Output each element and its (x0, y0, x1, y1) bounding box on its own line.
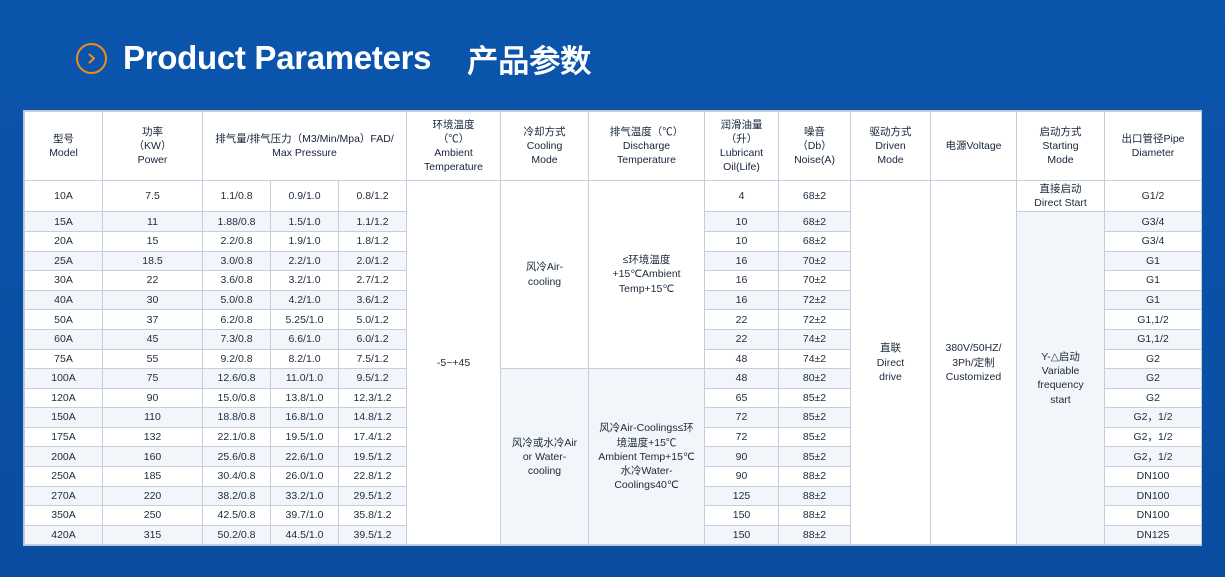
cell-model: 150A (25, 408, 103, 428)
cell-noise: 70±2 (779, 271, 851, 291)
column-header-discharge-temperature: 排气温度（℃） Discharge Temperature (589, 112, 705, 181)
cell-noise: 70±2 (779, 251, 851, 271)
cell-pressure-12: 19.5/1.2 (339, 447, 407, 467)
cell-model: 175A (25, 427, 103, 447)
cell-pipe-diameter: G2 (1105, 369, 1202, 389)
cell-noise: 85±2 (779, 388, 851, 408)
cell-pipe-diameter: DN100 (1105, 486, 1202, 506)
cell-pipe-diameter: G1/2 (1105, 181, 1202, 212)
cell-pressure-12: 6.0/1.2 (339, 329, 407, 349)
cell-pressure-10: 1.9/1.0 (271, 231, 339, 251)
cell-power: 90 (103, 388, 203, 408)
cell-pressure-12: 1.1/1.2 (339, 212, 407, 232)
cell-pressure-12: 17.4/1.2 (339, 427, 407, 447)
cell-pressure-10: 39.7/1.0 (271, 506, 339, 526)
cell-model: 200A (25, 447, 103, 467)
cell-model: 60A (25, 329, 103, 349)
cell-pressure-12: 2.0/1.2 (339, 251, 407, 271)
cell-pressure-08: 50.2/0.8 (203, 525, 271, 545)
cell-pipe-diameter: DN100 (1105, 467, 1202, 487)
cell-pressure-10: 4.2/1.0 (271, 290, 339, 310)
cell-pipe-diameter: G2，1/2 (1105, 408, 1202, 428)
cell-noise: 72±2 (779, 290, 851, 310)
cell-pressure-08: 7.3/0.8 (203, 329, 271, 349)
chevron-right-circle-icon (76, 43, 107, 74)
cell-model: 20A (25, 231, 103, 251)
cell-power: 160 (103, 447, 203, 467)
cell-lubricant-oil: 48 (705, 349, 779, 369)
column-header-power: 功率 （KW） Power (103, 112, 203, 181)
cell-pressure-08: 1.88/0.8 (203, 212, 271, 232)
cell-model: 250A (25, 467, 103, 487)
cell-model: 10A (25, 181, 103, 212)
cell-pressure-12: 39.5/1.2 (339, 525, 407, 545)
cell-noise: 88±2 (779, 525, 851, 545)
cell-pressure-08: 9.2/0.8 (203, 349, 271, 369)
cell-discharge-temperature-top: ≤环境温度 +15℃Ambient Temp+15℃ (589, 181, 705, 369)
cell-model: 15A (25, 212, 103, 232)
cell-lubricant-oil: 4 (705, 181, 779, 212)
cell-pressure-12: 29.5/1.2 (339, 486, 407, 506)
cell-lubricant-oil: 150 (705, 525, 779, 545)
cell-pipe-diameter: G1,1/2 (1105, 329, 1202, 349)
cell-pipe-diameter: G1,1/2 (1105, 310, 1202, 330)
cell-lubricant-oil: 22 (705, 329, 779, 349)
cell-pressure-08: 12.6/0.8 (203, 369, 271, 389)
cell-pressure-12: 3.6/1.2 (339, 290, 407, 310)
cell-pressure-08: 18.8/0.8 (203, 408, 271, 428)
cell-lubricant-oil: 150 (705, 506, 779, 526)
column-header-voltage: 电源Voltage (931, 112, 1017, 181)
cell-pipe-diameter: G1 (1105, 290, 1202, 310)
cell-power: 30 (103, 290, 203, 310)
cell-pressure-08: 2.2/0.8 (203, 231, 271, 251)
cell-pressure-08: 30.4/0.8 (203, 467, 271, 487)
cell-pressure-08: 38.2/0.8 (203, 486, 271, 506)
cell-noise: 68±2 (779, 231, 851, 251)
cell-power: 132 (103, 427, 203, 447)
column-header-model: 型号 Model (25, 112, 103, 181)
cell-noise: 88±2 (779, 506, 851, 526)
column-header-air-delivery-pressure: 排气量/排气压力（M3/Min/Mpa）FAD/ Max Pressure (203, 112, 407, 181)
cell-noise: 68±2 (779, 181, 851, 212)
cell-pressure-10: 8.2/1.0 (271, 349, 339, 369)
cell-power: 75 (103, 369, 203, 389)
cell-driven-mode: 直联 Direct drive (851, 181, 931, 545)
cell-pressure-10: 5.25/1.0 (271, 310, 339, 330)
cell-noise: 80±2 (779, 369, 851, 389)
cell-pressure-08: 42.5/0.8 (203, 506, 271, 526)
page-title-en: Product Parameters (123, 39, 431, 77)
cell-lubricant-oil: 48 (705, 369, 779, 389)
cell-lubricant-oil: 65 (705, 388, 779, 408)
cell-pressure-12: 12.3/1.2 (339, 388, 407, 408)
cell-model: 100A (25, 369, 103, 389)
cell-starting-mode-top: 直接启动 Direct Start (1017, 181, 1105, 212)
cell-noise: 85±2 (779, 408, 851, 428)
cell-pressure-12: 9.5/1.2 (339, 369, 407, 389)
page-header: Product Parameters 产品参数 (76, 30, 591, 86)
cell-pressure-08: 5.0/0.8 (203, 290, 271, 310)
cell-starting-mode-bottom: Y-△启动 Variable frequency start (1017, 212, 1105, 545)
cell-discharge-temperature-bottom: 风冷Air-Coolings≤环 境温度+15℃ Ambient Temp+15… (589, 369, 705, 545)
cell-pipe-diameter: DN125 (1105, 525, 1202, 545)
cell-noise: 74±2 (779, 329, 851, 349)
cell-pressure-10: 16.8/1.0 (271, 408, 339, 428)
cell-pressure-10: 0.9/1.0 (271, 181, 339, 212)
cell-pipe-diameter: G1 (1105, 271, 1202, 291)
cell-pressure-08: 3.6/0.8 (203, 271, 271, 291)
cell-pipe-diameter: G2 (1105, 349, 1202, 369)
cell-pressure-10: 19.5/1.0 (271, 427, 339, 447)
cell-pressure-08: 25.6/0.8 (203, 447, 271, 467)
cell-model: 270A (25, 486, 103, 506)
cell-lubricant-oil: 16 (705, 290, 779, 310)
cell-pressure-10: 26.0/1.0 (271, 467, 339, 487)
cell-pipe-diameter: G2，1/2 (1105, 427, 1202, 447)
cell-pressure-12: 22.8/1.2 (339, 467, 407, 487)
column-header-lubricant-oil: 润滑油量 （升） Lubricant Oil(Life) (705, 112, 779, 181)
cell-pressure-10: 1.5/1.0 (271, 212, 339, 232)
cell-pressure-10: 33.2/1.0 (271, 486, 339, 506)
cell-pressure-08: 15.0/0.8 (203, 388, 271, 408)
cell-lubricant-oil: 16 (705, 251, 779, 271)
cell-lubricant-oil: 72 (705, 427, 779, 447)
cell-power: 315 (103, 525, 203, 545)
parameters-table-container: 型号 Model 功率 （KW） Power 排气量/排气压力（M3/Min/M… (23, 110, 1202, 546)
cell-power: 11 (103, 212, 203, 232)
cell-power: 15 (103, 231, 203, 251)
page-title-cn: 产品参数 (467, 36, 591, 81)
cell-lubricant-oil: 16 (705, 271, 779, 291)
cell-pressure-08: 22.1/0.8 (203, 427, 271, 447)
column-header-cooling-mode: 冷却方式 Cooling Mode (501, 112, 589, 181)
cell-pipe-diameter: G2 (1105, 388, 1202, 408)
cell-noise: 88±2 (779, 467, 851, 487)
cell-pressure-12: 1.8/1.2 (339, 231, 407, 251)
cell-lubricant-oil: 10 (705, 212, 779, 232)
cell-pipe-diameter: G3/4 (1105, 212, 1202, 232)
cell-power: 220 (103, 486, 203, 506)
cell-lubricant-oil: 22 (705, 310, 779, 330)
cell-pressure-10: 11.0/1.0 (271, 369, 339, 389)
cell-pressure-12: 7.5/1.2 (339, 349, 407, 369)
cell-lubricant-oil: 10 (705, 231, 779, 251)
cell-ambient-temperature: -5~+45 (407, 181, 501, 545)
cell-cooling-mode-bottom: 风冷或水冷Air or Water- cooling (501, 369, 589, 545)
column-header-pipe-diameter: 出口管径Pipe Diameter (1105, 112, 1202, 181)
cell-model: 75A (25, 349, 103, 369)
cell-lubricant-oil: 125 (705, 486, 779, 506)
cell-power: 55 (103, 349, 203, 369)
cell-model: 120A (25, 388, 103, 408)
cell-power: 37 (103, 310, 203, 330)
cell-pressure-10: 2.2/1.0 (271, 251, 339, 271)
cell-pressure-10: 22.6/1.0 (271, 447, 339, 467)
product-parameters-page: Product Parameters 产品参数 (0, 0, 1225, 577)
cell-pressure-10: 6.6/1.0 (271, 329, 339, 349)
cell-lubricant-oil: 72 (705, 408, 779, 428)
cell-pressure-10: 44.5/1.0 (271, 525, 339, 545)
parameters-table: 型号 Model 功率 （KW） Power 排气量/排气压力（M3/Min/M… (24, 111, 1202, 545)
cell-model: 350A (25, 506, 103, 526)
cell-power: 7.5 (103, 181, 203, 212)
cell-pressure-12: 5.0/1.2 (339, 310, 407, 330)
cell-power: 18.5 (103, 251, 203, 271)
cell-model: 25A (25, 251, 103, 271)
cell-pressure-12: 2.7/1.2 (339, 271, 407, 291)
cell-model: 50A (25, 310, 103, 330)
column-header-noise: 噪音 （Db） Noise(A) (779, 112, 851, 181)
cell-pressure-10: 3.2/1.0 (271, 271, 339, 291)
table-header-row: 型号 Model 功率 （KW） Power 排气量/排气压力（M3/Min/M… (25, 112, 1202, 181)
cell-noise: 88±2 (779, 486, 851, 506)
cell-noise: 85±2 (779, 427, 851, 447)
cell-noise: 68±2 (779, 212, 851, 232)
cell-model: 30A (25, 271, 103, 291)
cell-cooling-mode-top: 风冷Air- cooling (501, 181, 589, 369)
cell-power: 250 (103, 506, 203, 526)
cell-pipe-diameter: G2，1/2 (1105, 447, 1202, 467)
cell-pressure-12: 35.8/1.2 (339, 506, 407, 526)
cell-pressure-08: 1.1/0.8 (203, 181, 271, 212)
cell-pipe-diameter: G1 (1105, 251, 1202, 271)
cell-power: 45 (103, 329, 203, 349)
cell-pipe-diameter: DN100 (1105, 506, 1202, 526)
cell-pressure-12: 14.8/1.2 (339, 408, 407, 428)
cell-pressure-08: 3.0/0.8 (203, 251, 271, 271)
cell-lubricant-oil: 90 (705, 467, 779, 487)
cell-model: 40A (25, 290, 103, 310)
cell-model: 420A (25, 525, 103, 545)
cell-lubricant-oil: 90 (705, 447, 779, 467)
cell-pressure-12: 0.8/1.2 (339, 181, 407, 212)
cell-pressure-08: 6.2/0.8 (203, 310, 271, 330)
cell-voltage: 380V/50HZ/ 3Ph/定制 Customized (931, 181, 1017, 545)
cell-power: 22 (103, 271, 203, 291)
cell-noise: 85±2 (779, 447, 851, 467)
cell-power: 110 (103, 408, 203, 428)
column-header-starting-mode: 启动方式 Starting Mode (1017, 112, 1105, 181)
cell-pressure-10: 13.8/1.0 (271, 388, 339, 408)
column-header-ambient-temperature: 环境温度 （℃） Ambient Temperature (407, 112, 501, 181)
column-header-driven-mode: 驱动方式 Driven Mode (851, 112, 931, 181)
table-body: 10A 7.5 1.1/0.8 0.9/1.0 0.8/1.2 -5~+45 风… (25, 181, 1202, 545)
cell-noise: 72±2 (779, 310, 851, 330)
table-row: 10A 7.5 1.1/0.8 0.9/1.0 0.8/1.2 -5~+45 风… (25, 181, 1202, 212)
cell-noise: 74±2 (779, 349, 851, 369)
cell-power: 185 (103, 467, 203, 487)
cell-pipe-diameter: G3/4 (1105, 231, 1202, 251)
